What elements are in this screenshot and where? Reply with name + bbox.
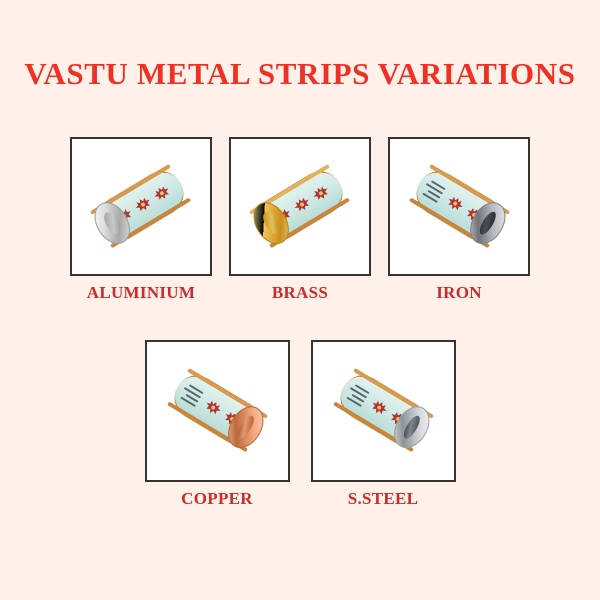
product-label-s-steel: S.STEEL [348, 488, 419, 509]
product-tile-s-steel[interactable] [311, 340, 456, 482]
tape-roll-icon [82, 148, 200, 266]
product-cell-iron[interactable]: IRON [388, 137, 530, 303]
product-row-top: ALUMINIUM [0, 137, 600, 303]
product-tile-aluminium[interactable] [70, 137, 212, 276]
product-cell-brass[interactable]: BRASS [229, 137, 371, 303]
product-label-copper: COPPER [181, 488, 253, 509]
page-title: VASTU METAL STRIPS VARIATIONS [0, 55, 600, 93]
product-tile-brass[interactable] [229, 137, 371, 276]
tape-roll-icon [158, 352, 276, 470]
product-label-brass: BRASS [272, 282, 328, 303]
product-cell-copper[interactable]: COPPER [145, 340, 290, 509]
poster-canvas: VASTU METAL STRIPS VARIATIONS [0, 0, 600, 600]
product-label-aluminium: ALUMINIUM [87, 282, 195, 303]
tape-roll-icon [241, 148, 359, 266]
product-tile-iron[interactable] [388, 137, 530, 276]
tape-roll-icon [324, 352, 442, 470]
product-cell-aluminium[interactable]: ALUMINIUM [70, 137, 212, 303]
product-cell-s-steel[interactable]: S.STEEL [311, 340, 456, 509]
tape-roll-icon [400, 148, 518, 266]
product-tile-copper[interactable] [145, 340, 290, 482]
product-row-bottom: COPPER [0, 340, 600, 509]
product-label-iron: IRON [436, 282, 482, 303]
